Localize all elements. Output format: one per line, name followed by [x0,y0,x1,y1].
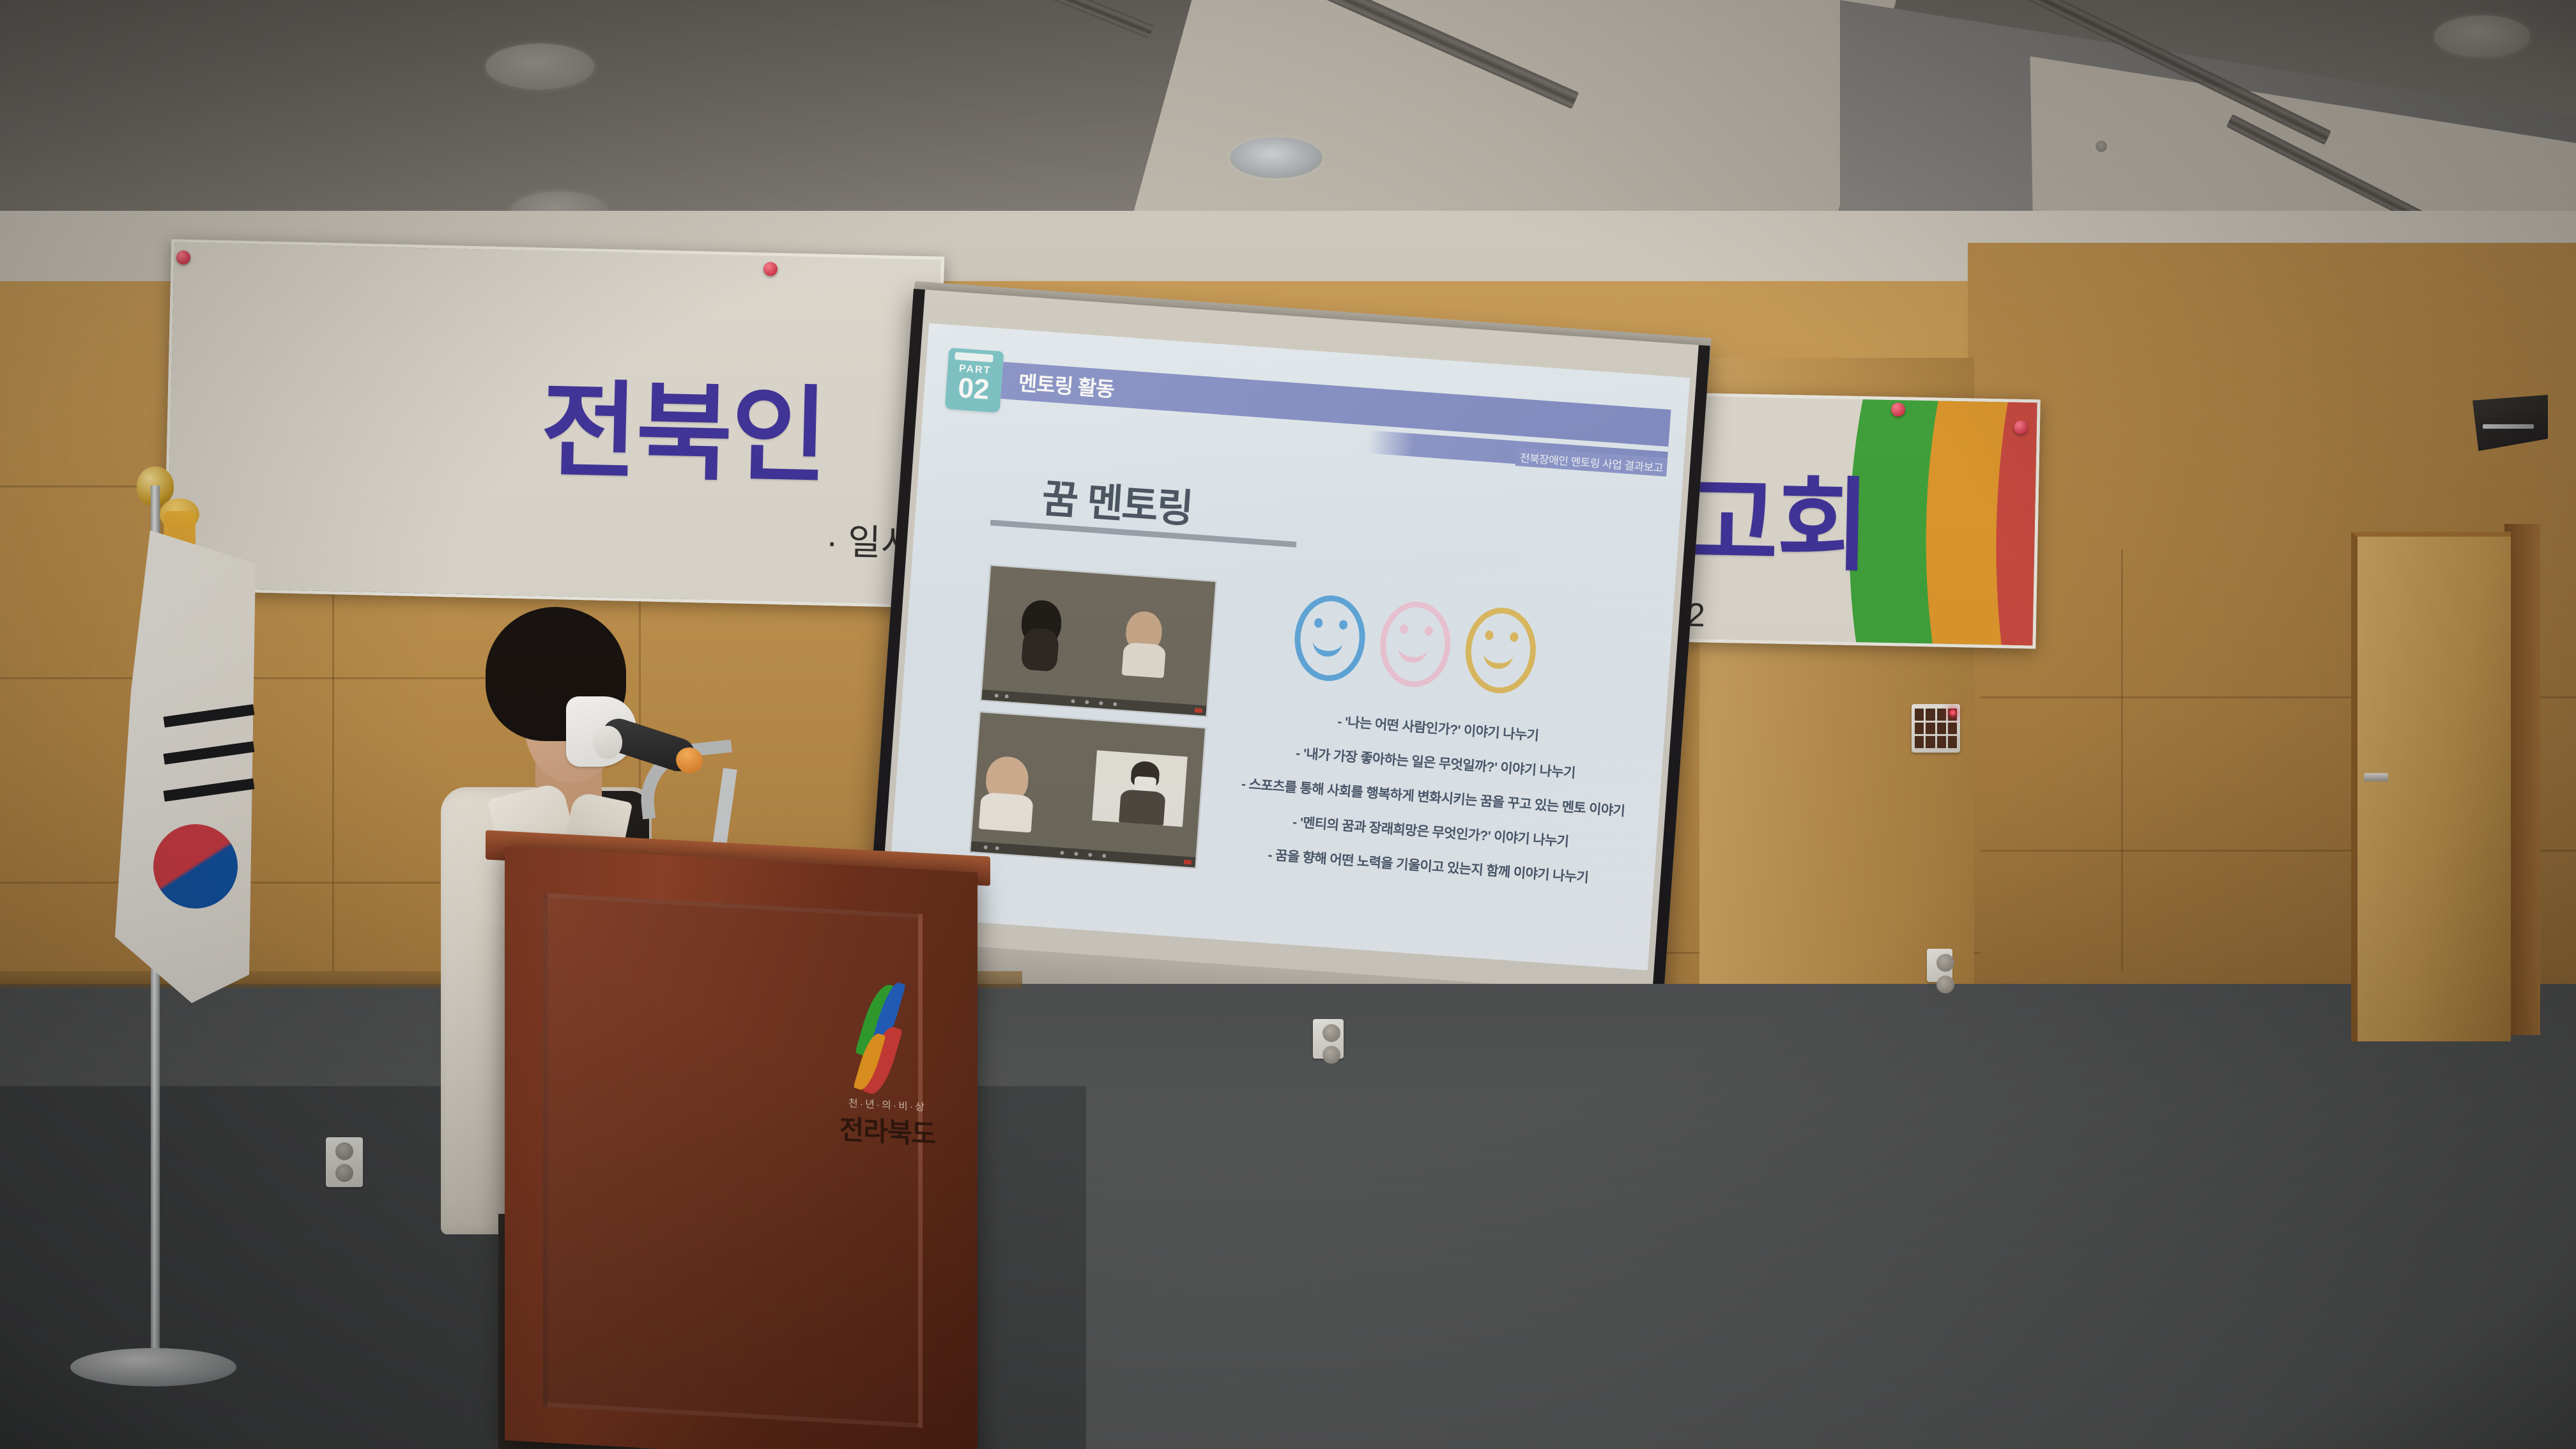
video-call-thumbnail-2 [969,711,1206,869]
wall-control-panel[interactable] [1912,704,1960,753]
wall-power-outlet[interactable] [1313,1019,1344,1059]
emblem-name: 전라북도 [833,1108,942,1153]
jeollabuk-do-emblem: 천·년·의·비·상 전라북도 [843,976,926,1108]
slide-title: 꿈 멘토링 [1040,466,1194,534]
podium-front-panel [543,893,923,1428]
pink-smiley-icon [1377,599,1453,690]
banner-pin [1891,402,1905,417]
flag-stand-base [70,1348,236,1386]
door-handle[interactable] [2364,773,2388,781]
ceiling-downlight [2434,15,2530,57]
banner-pin [176,250,190,264]
presentation-slide: PART 02 멘토링 활동 전북장애인 멘토링 사업 결과보고 꿈 멘토링 [887,323,1690,970]
ceiling-downlight [1230,137,1322,178]
banner-title-left: 전북인 [539,346,828,503]
slide-header-title: 멘토링 활동 [1017,367,1115,403]
ceiling-downlight [486,43,594,89]
gold-smiley-icon [1462,605,1538,696]
banner-pin [2014,420,2028,434]
projector-screen: PART 02 멘토링 활동 전북장애인 멘토링 사업 결과보고 꿈 멘토링 [864,289,1710,1041]
wall-power-outlet[interactable] [1927,949,1952,982]
panel-seam [2121,549,2123,971]
part-number: 02 [957,375,990,404]
blue-smiley-icon [1292,593,1368,684]
room-door[interactable] [2351,532,2511,1041]
event-banner-right: 보고회 실2 [1671,393,2040,649]
conference-room-photo: 전북인 · 일시 보고회 실2 PART 02 멘토링 활동 전북장애인 멘토링… [0,0,2576,1449]
microphone-windscreen [593,726,622,759]
part-badge: PART 02 [945,348,1004,413]
video-call-thumbnail-1 [980,565,1216,717]
status-led-indicator [1949,709,1956,716]
banner-pin [763,262,778,276]
slide-bullet-list: - '나는 어떤 사람인가?' 이야기 나누기 - '내가 가장 좋아하는 일은… [1204,702,1662,906]
ceiling-sprinkler [2096,141,2107,152]
wall-power-outlet[interactable] [326,1137,363,1187]
event-banner-left: 전북인 · 일시 [164,239,944,608]
